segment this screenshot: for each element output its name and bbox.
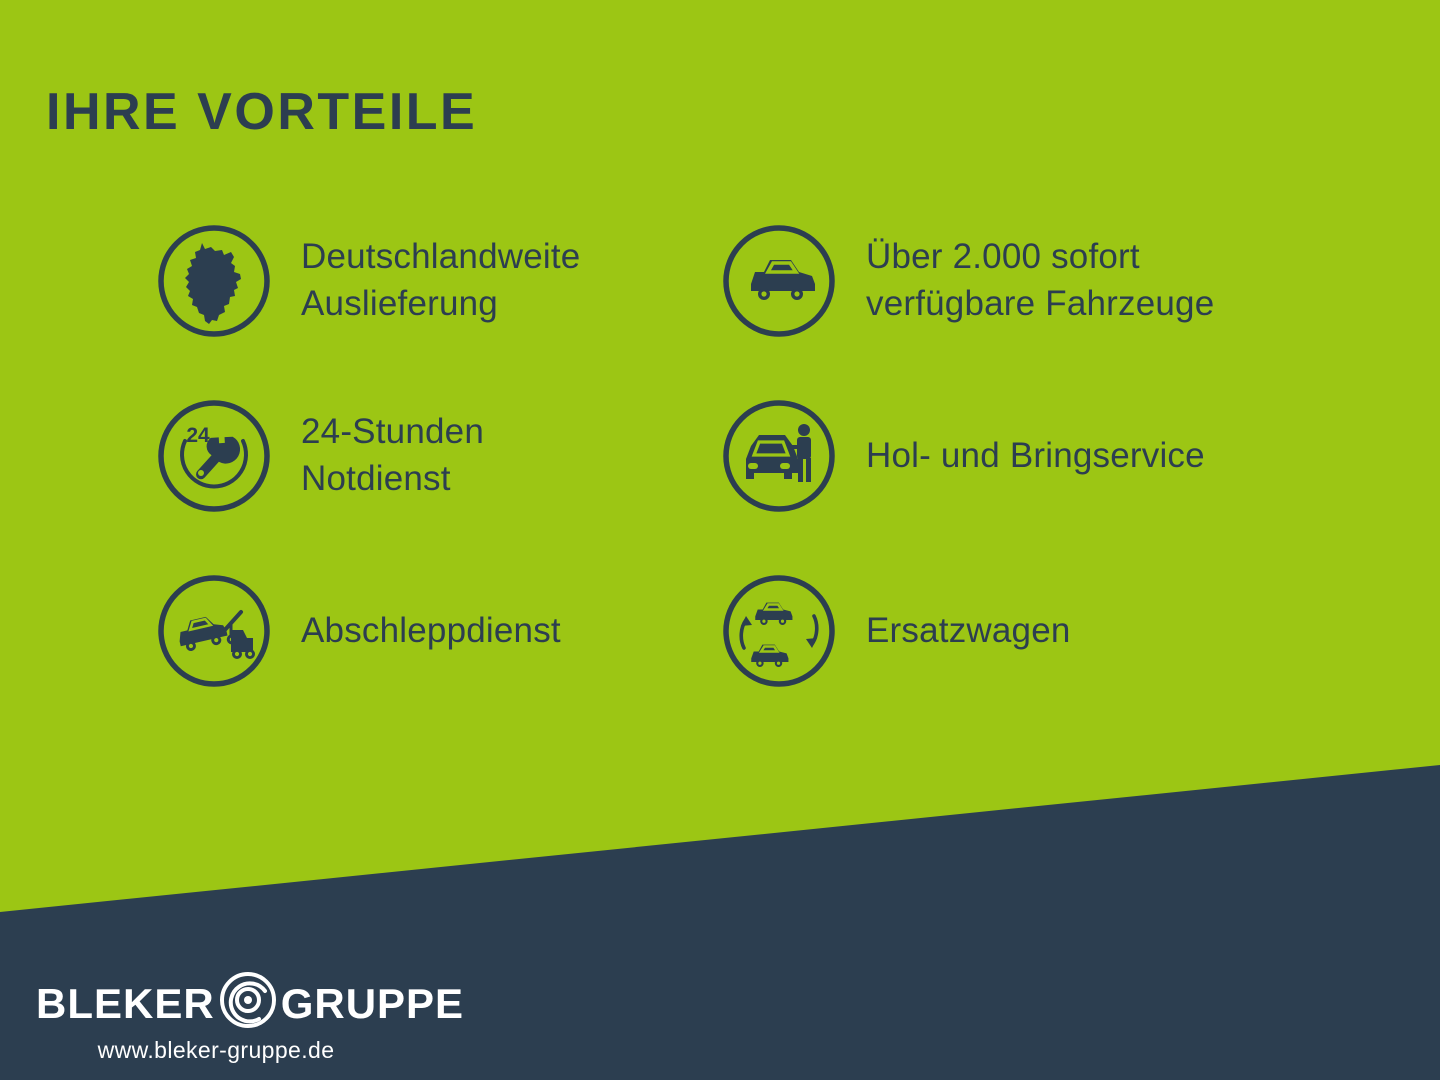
benefit-label-line: Deutschlandweite (301, 234, 580, 281)
logo-word-gruppe: GRUPPE (281, 983, 464, 1025)
benefit-row: Deutschlandweite Auslieferung (155, 222, 1385, 397)
benefit-item-abschleppdienst[interactable]: Abschleppdienst (155, 572, 720, 690)
car-with-driver-icon (720, 397, 838, 515)
benefit-item-ersatzwagen[interactable]: Ersatzwagen (720, 572, 1320, 690)
benefit-label: Über 2.000 sofort verfügbare Fahrzeuge (866, 234, 1214, 327)
benefit-label-line: Auslieferung (301, 281, 580, 328)
benefit-label: Abschleppdienst (301, 608, 561, 655)
benefit-item-verfuegbare-fahrzeuge[interactable]: Über 2.000 sofort verfügbare Fahrzeuge (720, 222, 1320, 340)
page-title: IHRE VORTEILE (46, 86, 477, 138)
24h-badge-text: 24 (186, 424, 210, 447)
benefit-item-deutschlandweite-auslieferung[interactable]: Deutschlandweite Auslieferung (155, 222, 720, 340)
benefits-grid: Deutschlandweite Auslieferung (155, 222, 1385, 747)
benefit-item-24-stunden-notdienst[interactable]: 24 24-Stunden Notdienst (155, 397, 720, 515)
spiral-logo-icon (217, 969, 279, 1031)
germany-map-icon (155, 222, 273, 340)
logo-wordmark: BLEKER GRUPPE (36, 978, 436, 1030)
24h-wrench-icon: 24 (155, 397, 273, 515)
benefit-label-line: verfügbare Fahrzeuge (866, 281, 1214, 328)
benefit-label-line: Über 2.000 sofort (866, 234, 1214, 281)
benefit-row: 24 24-Stunden Notdienst (155, 397, 1385, 572)
benefit-label: Ersatzwagen (866, 608, 1071, 655)
footer-logo[interactable]: BLEKER GRUPPE www.bleker-gruppe.de (36, 978, 436, 1064)
car-exchange-icon (720, 572, 838, 690)
logo-url[interactable]: www.bleker-gruppe.de (36, 1037, 396, 1064)
benefit-label: Deutschlandweite Auslieferung (301, 234, 580, 327)
logo-word-bleker: BLEKER (36, 983, 215, 1025)
benefit-label-line: Notdienst (301, 456, 484, 503)
benefit-label: 24-Stunden Notdienst (301, 409, 484, 502)
benefit-label-line: Ersatzwagen (866, 608, 1071, 655)
slide-canvas: IHRE VORTEILE Deutschlandweite Ausliefer… (0, 0, 1440, 1080)
car-side-icon (720, 222, 838, 340)
benefit-label-line: Hol- und Bringservice (866, 433, 1205, 480)
tow-truck-icon (155, 572, 273, 690)
benefit-label-line: 24-Stunden (301, 409, 484, 456)
benefit-label-line: Abschleppdienst (301, 608, 561, 655)
benefit-label: Hol- und Bringservice (866, 433, 1205, 480)
benefit-row: Abschleppdienst (155, 572, 1385, 747)
benefit-item-hol-und-bringservice[interactable]: Hol- und Bringservice (720, 397, 1320, 515)
